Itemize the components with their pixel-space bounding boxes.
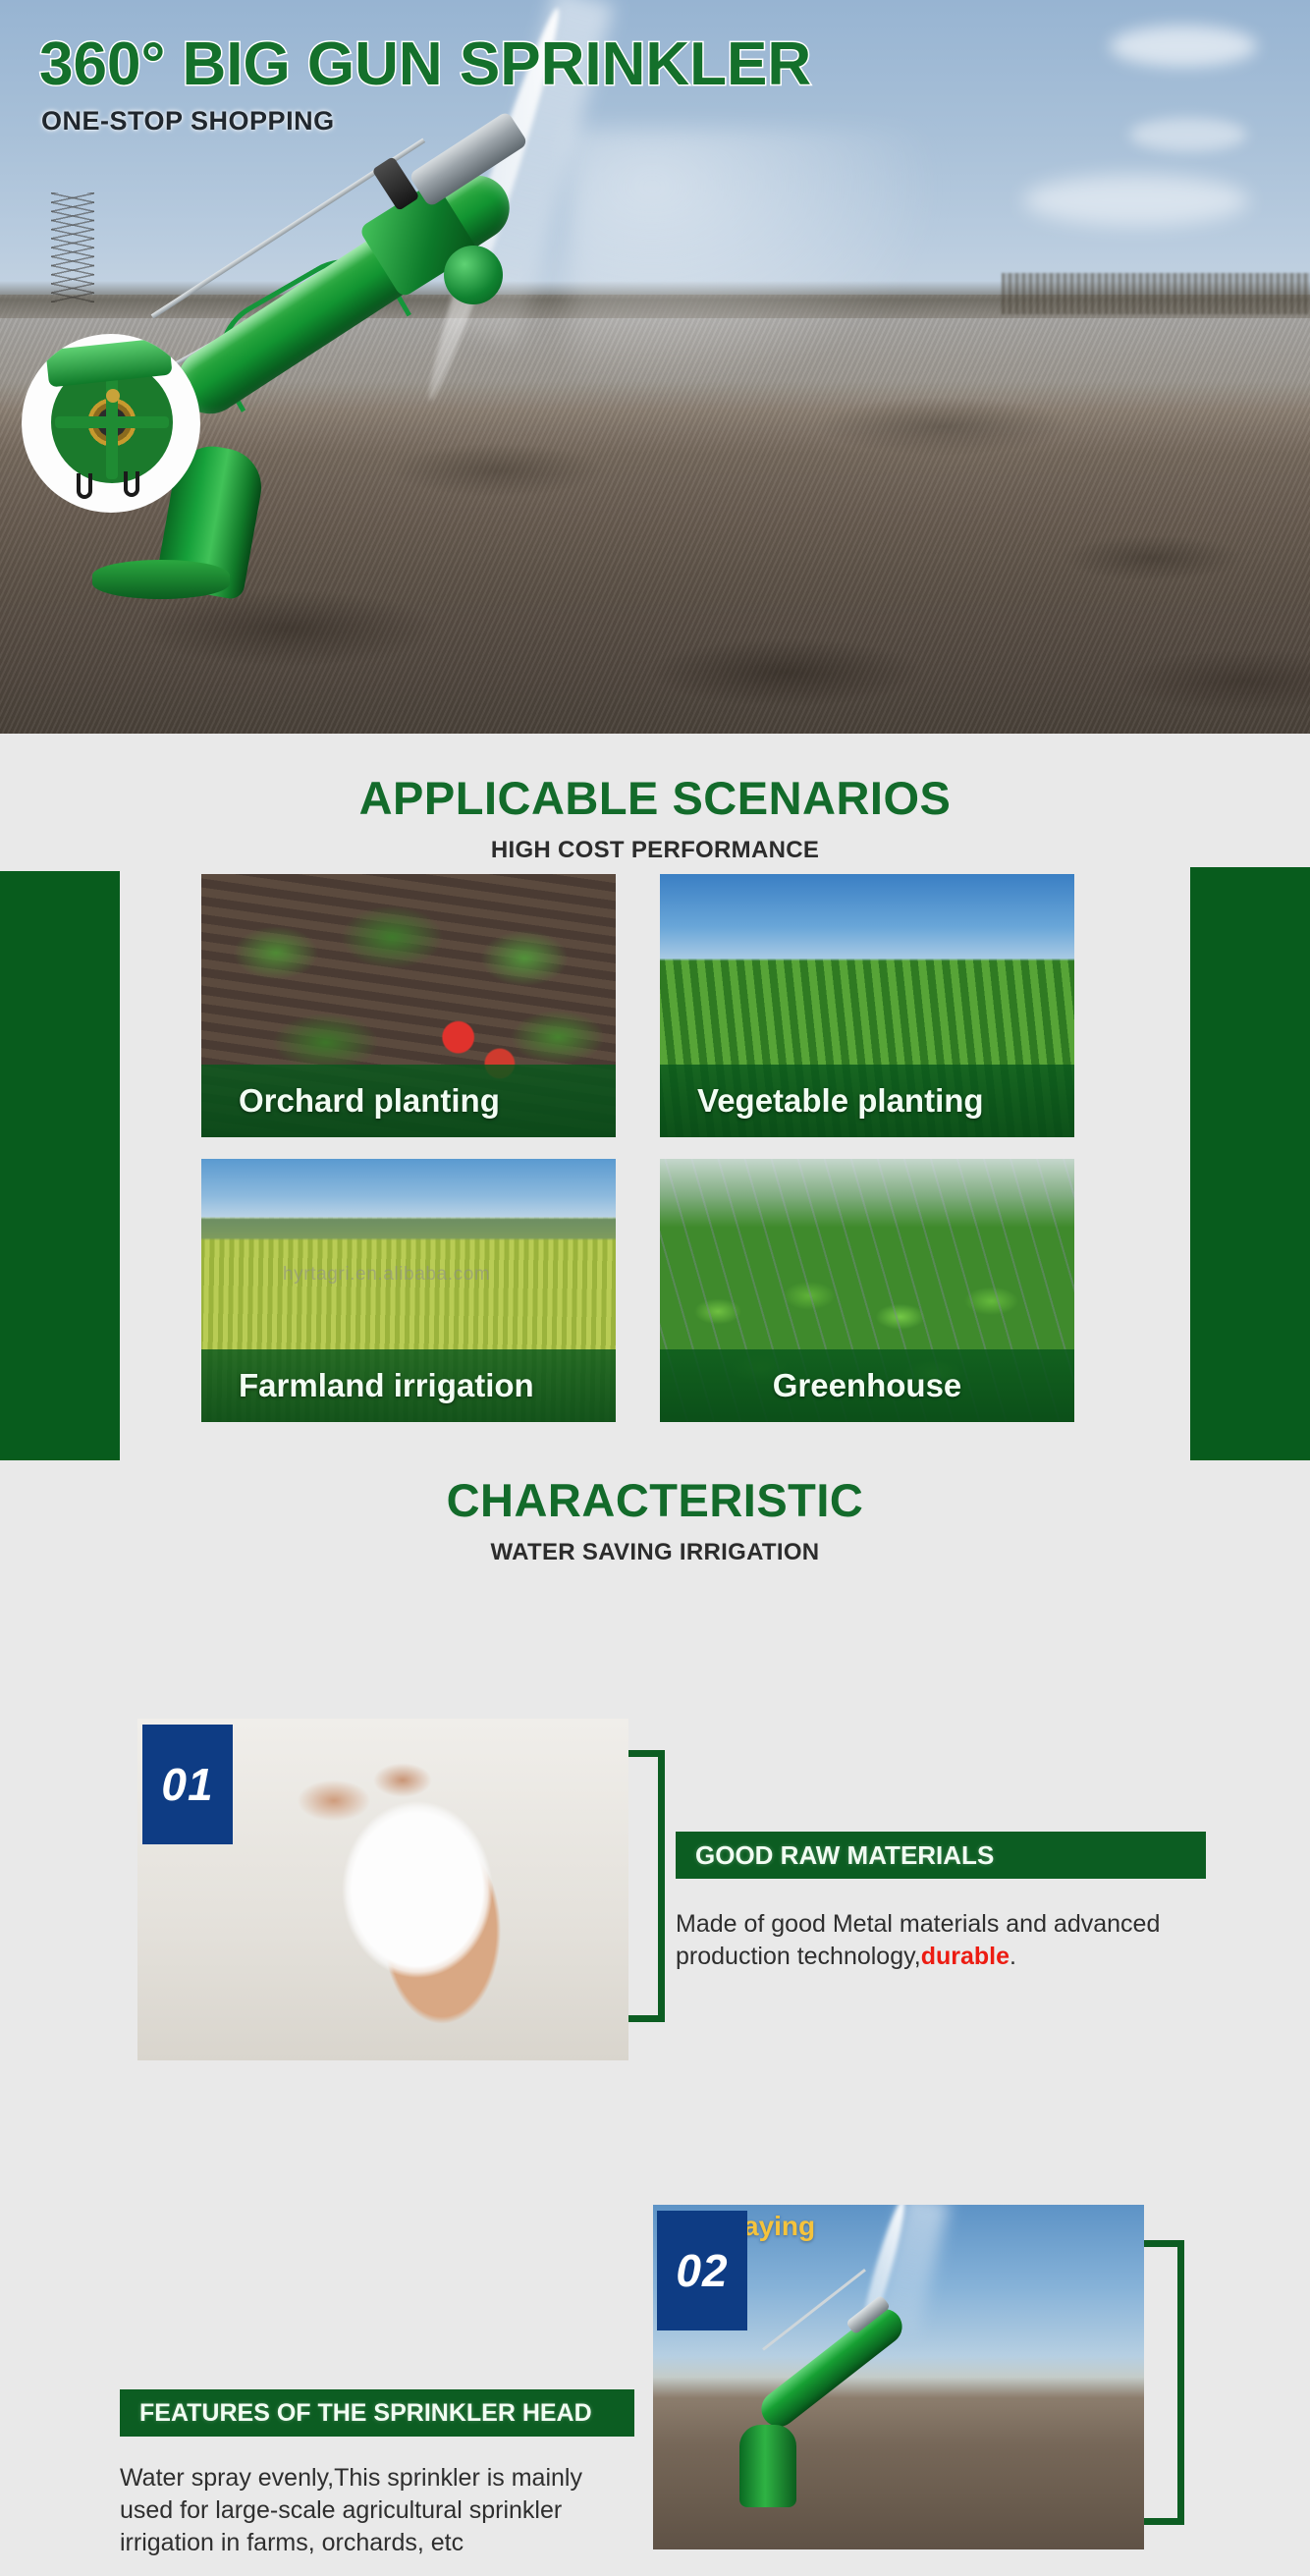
product-infographic-page: 360° BIG GUN SPRINKLER ONE-STOP SHOPPING… xyxy=(0,0,1310,2576)
scenario-card-vegetable[interactable]: Vegetable planting xyxy=(660,874,1074,1137)
feature-02-overlay-text: aying xyxy=(743,2211,815,2242)
cloud-icon xyxy=(1110,26,1257,67)
scenario-caption: Vegetable planting xyxy=(660,1065,1074,1137)
hook-icon xyxy=(124,471,139,497)
decorative-right-green-bar xyxy=(1190,867,1310,1460)
feature-02-body: Water spray evenly,This sprinkler is mai… xyxy=(120,2462,611,2559)
scenario-caption: Orchard planting xyxy=(201,1065,616,1137)
scenarios-title: APPLICABLE SCENARIOS xyxy=(0,734,1310,825)
gun-valve xyxy=(444,246,503,304)
cloud-icon xyxy=(1023,175,1249,226)
decorative-left-green-bar xyxy=(0,871,120,1460)
scenario-row: Orchard planting Vegetable planting xyxy=(201,874,1113,1137)
feature-02-body-text: Water spray evenly,This sprinkler is mai… xyxy=(120,2464,582,2556)
feature-01-body: Made of good Metal materials and advance… xyxy=(676,1908,1226,1973)
water-mist xyxy=(570,128,982,422)
hero-treeline xyxy=(1002,273,1310,314)
gun-barrel xyxy=(754,2302,909,2434)
scenario-caption: Greenhouse xyxy=(660,1349,1074,1422)
feature-01-number-badge: 01 xyxy=(142,1725,233,1844)
scenario-card-orchard[interactable]: Orchard planting xyxy=(201,874,616,1137)
gun-base xyxy=(739,2425,796,2507)
scenario-card-grid: Orchard planting Vegetable planting Farm… xyxy=(201,874,1113,1444)
characteristic-subtitle: WATER SAVING IRRIGATION xyxy=(0,1539,1310,1566)
feature-02-heading: FEATURES OF THE SPRINKLER HEAD xyxy=(120,2389,634,2437)
characteristic-section: CHARACTERISTIC WATER SAVING IRRIGATION 0… xyxy=(0,1473,1310,2576)
bolt-icon xyxy=(106,389,120,403)
hook-icon xyxy=(77,473,92,499)
scenario-row: Farmland irrigation Greenhouse xyxy=(201,1159,1113,1422)
feature-01-body-text: Made of good Metal materials and advance… xyxy=(676,1910,1160,1970)
characteristic-title: CHARACTERISTIC xyxy=(0,1473,1310,1527)
hero-title: 360° BIG GUN SPRINKLER xyxy=(39,29,811,99)
scenario-caption: Farmland irrigation xyxy=(201,1349,616,1422)
feature-02-number-badge: 02 xyxy=(657,2211,747,2330)
hero-banner: 360° BIG GUN SPRINKLER ONE-STOP SHOPPING xyxy=(0,0,1310,734)
hero-subtitle: ONE-STOP SHOPPING xyxy=(41,106,335,137)
applicable-scenarios-section: APPLICABLE SCENARIOS HIGH COST PERFORMAN… xyxy=(0,734,1310,1480)
scenario-card-farmland[interactable]: Farmland irrigation xyxy=(201,1159,616,1422)
gun-base xyxy=(92,560,230,599)
feature-01-body-tail: . xyxy=(1010,1943,1016,1970)
feature-01-highlight: durable xyxy=(921,1943,1010,1970)
cloud-icon xyxy=(1129,118,1247,151)
scenario-card-greenhouse[interactable]: Greenhouse xyxy=(660,1159,1074,1422)
feature-01-heading: GOOD RAW MATERIALS xyxy=(676,1832,1206,1879)
scenarios-subtitle: HIGH COST PERFORMANCE xyxy=(0,837,1310,864)
hero-product-badge xyxy=(22,334,200,513)
